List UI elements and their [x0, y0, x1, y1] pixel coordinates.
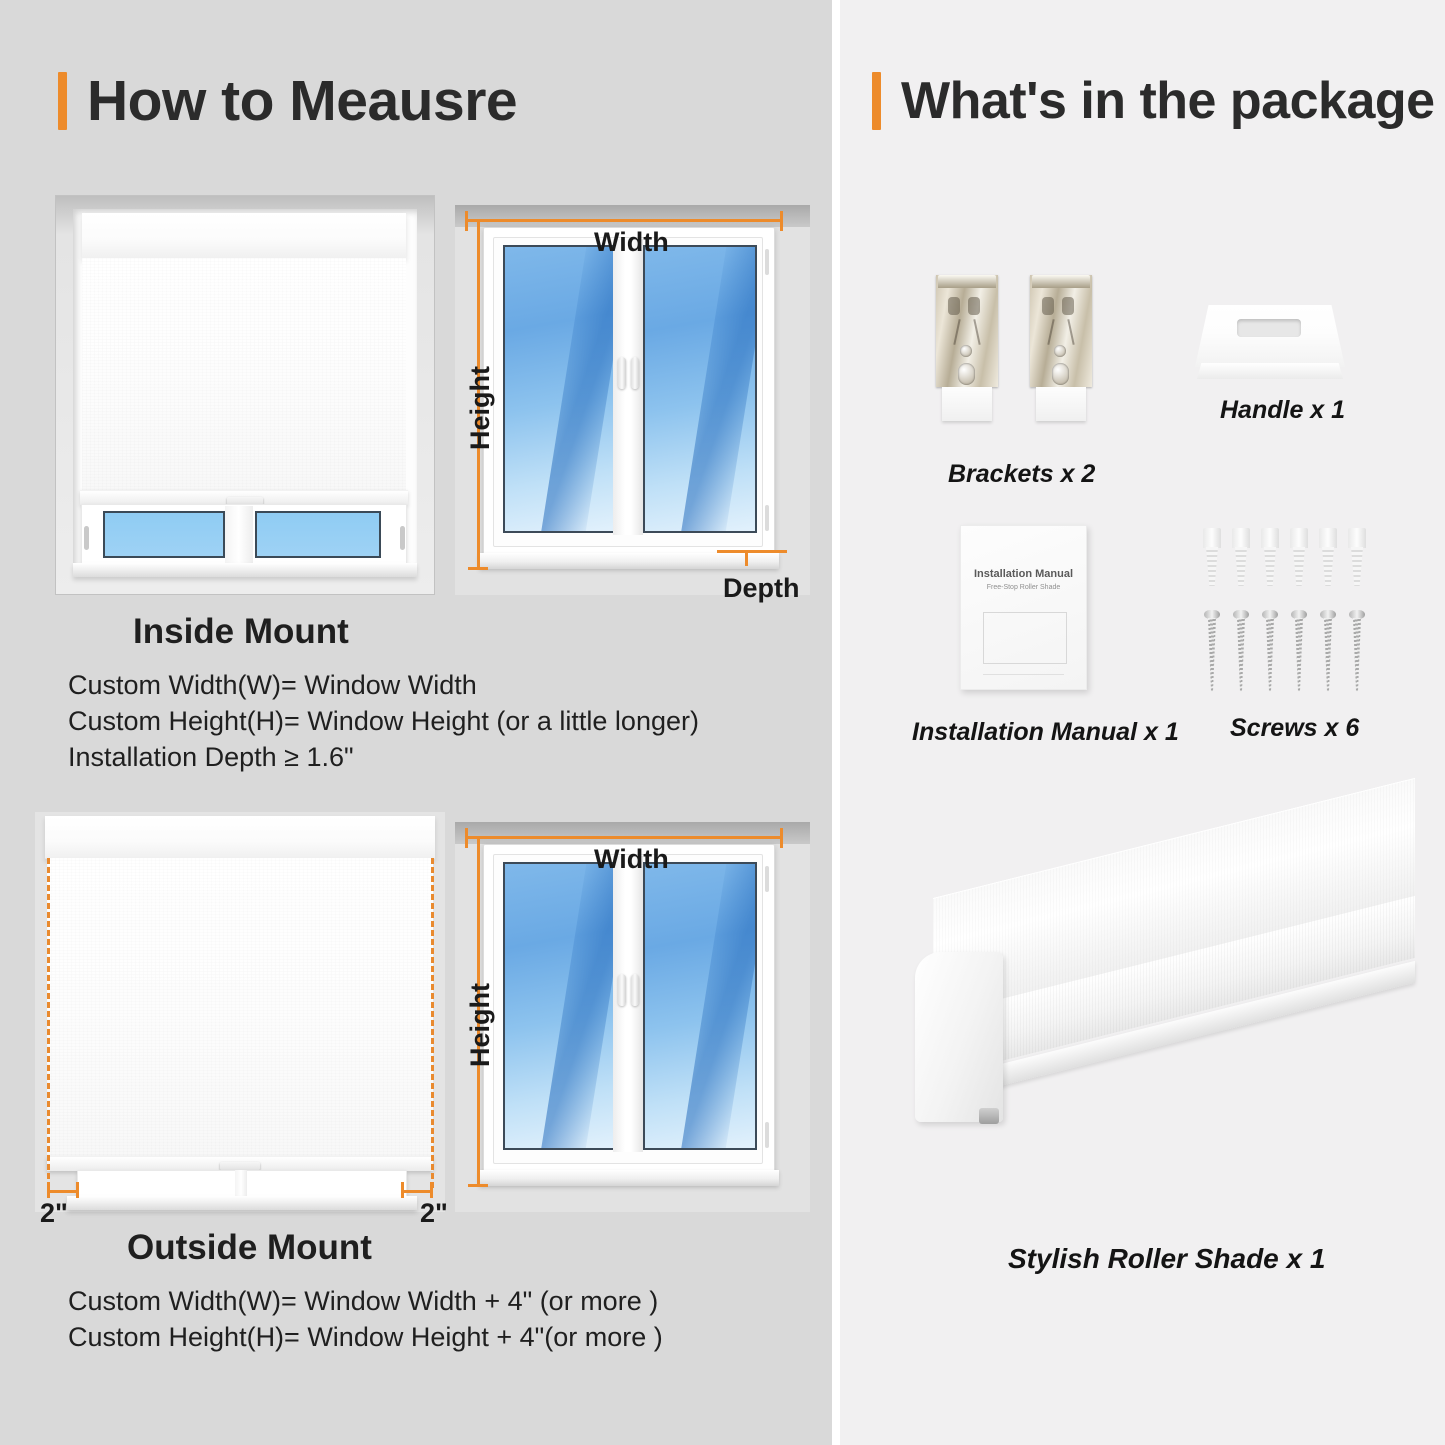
height-cap-bottom — [468, 567, 488, 570]
overhang-cap-right-a — [401, 1182, 404, 1198]
wall-anchor-3 — [1261, 528, 1279, 586]
anchor-head — [1348, 528, 1366, 548]
overhang-label-left: 2" — [40, 1198, 68, 1229]
width-label: Width — [594, 227, 669, 258]
handle-item — [1195, 305, 1345, 383]
width-label: Width — [594, 844, 669, 875]
shade-valance — [45, 816, 435, 859]
screw-5 — [1320, 610, 1336, 692]
screw-head — [1320, 610, 1336, 619]
roller-shade-item — [915, 890, 1415, 1190]
height-label: Height — [465, 983, 496, 1067]
installation-manual-label: Installation Manual x 1 — [912, 718, 1179, 747]
height-label: Height — [465, 366, 496, 450]
accent-bar-icon — [872, 72, 881, 130]
manual-cover-illustration — [983, 612, 1067, 664]
width-cap-right — [780, 828, 783, 848]
anchor-body — [1322, 547, 1334, 586]
diagram-lintel — [455, 205, 810, 227]
inside-mount-title: Inside Mount — [133, 612, 349, 652]
depth-measure-line — [717, 550, 787, 553]
package-contents-panel: What's in the package Brackets x 2 — [840, 0, 1445, 1445]
bracket-top-tab — [1032, 275, 1090, 288]
how-to-measure-heading: How to Meausre — [58, 72, 517, 130]
window-glass-left — [103, 511, 225, 558]
bracket-foot — [942, 387, 992, 421]
bracket-foot — [1036, 387, 1086, 421]
diagram-lintel — [455, 822, 810, 844]
manual-cover-footer-rule — [983, 674, 1064, 675]
panel-divider — [832, 0, 840, 1445]
screws-label: Screws x 6 — [1230, 714, 1359, 743]
diagram-sill — [479, 1170, 779, 1186]
window-glass-right — [255, 511, 381, 558]
window-handle-left — [84, 526, 89, 550]
outside-mount-shade-illustration — [35, 812, 445, 1212]
screw-2 — [1233, 610, 1249, 692]
screw-head — [1291, 610, 1307, 619]
height-cap-bottom — [468, 1184, 488, 1187]
screw-shaft — [1237, 618, 1245, 692]
diagram-handle-left — [618, 974, 626, 1006]
screw-3 — [1262, 610, 1278, 692]
diagram-handle-left — [618, 357, 626, 389]
diagram-glass-left — [503, 862, 617, 1150]
screw-1 — [1204, 610, 1220, 692]
how-to-measure-panel: How to Meausre — [0, 0, 832, 1445]
accent-bar-icon — [58, 72, 67, 130]
screw-head — [1262, 610, 1278, 619]
inside-mount-spec-3: Installation Depth ≥ 1.6" — [68, 742, 354, 773]
diagram-center-mullion — [613, 856, 643, 1152]
window-sill — [73, 563, 417, 577]
screw-shaft — [1295, 618, 1303, 692]
depth-label: Depth — [723, 573, 800, 604]
shade-fabric — [82, 258, 406, 490]
diagram-hinge-bottom — [765, 1122, 769, 1148]
bracket-top-tab — [938, 275, 996, 288]
outside-mount-spec-1: Custom Width(W)= Window Width + 4" (or m… — [68, 1286, 658, 1317]
bracket-mount-hole — [1052, 363, 1069, 385]
screw-shaft — [1266, 618, 1274, 692]
depth-cap — [745, 550, 748, 566]
anchor-body — [1293, 547, 1305, 586]
diagram-glass-left — [503, 245, 617, 533]
width-cap-right — [780, 211, 783, 231]
wall-anchor-6 — [1348, 528, 1366, 586]
diagram-handle-right — [631, 357, 639, 389]
anchor-head — [1261, 528, 1279, 548]
shade-valance — [82, 213, 406, 259]
outside-mount-title: Outside Mount — [127, 1228, 372, 1268]
diagram-handle-right — [631, 974, 639, 1006]
screw-shaft — [1324, 618, 1332, 692]
window-mullion — [225, 506, 253, 563]
screw-head — [1204, 610, 1220, 619]
anchor-head — [1319, 528, 1337, 548]
overhang-guide-right — [431, 858, 434, 1188]
screw-head — [1233, 610, 1249, 619]
anchor-body — [1264, 547, 1276, 586]
window-mullion — [235, 1170, 247, 1196]
diagram-hinge-top — [765, 249, 769, 275]
manual-cover-subtitle: Free-Stop Roller Shade — [961, 584, 1086, 591]
handle-label: Handle x 1 — [1220, 396, 1345, 425]
heading-text: What's in the package — [901, 75, 1435, 127]
overhang-measure-right — [401, 1190, 433, 1193]
diagram-glass-right — [643, 245, 757, 533]
manual-cover-title: Installation Manual — [961, 568, 1086, 580]
bracket-slot-b — [1062, 297, 1074, 315]
outside-mount-measure-diagram: Width Height — [455, 822, 810, 1212]
bracket-mount-hole — [958, 363, 975, 385]
diagram-sill — [479, 553, 779, 569]
heading-text: How to Meausre — [87, 73, 517, 130]
infographic-page: How to Meausre — [0, 0, 1445, 1445]
height-cap-top — [468, 219, 488, 222]
roller-shade-endcap — [915, 952, 1003, 1122]
overhang-guide-left — [47, 858, 50, 1188]
inside-mount-shade-illustration — [55, 195, 435, 595]
screw-shaft — [1208, 618, 1216, 692]
width-measure-line — [465, 836, 783, 839]
wall-anchor-2 — [1232, 528, 1250, 586]
inside-mount-measure-diagram: Width Height Depth — [455, 205, 810, 595]
bracket-slot-a — [948, 297, 960, 315]
diagram-glass-right — [643, 862, 757, 1150]
bracket-item-1 — [936, 275, 998, 425]
diagram-hinge-top — [765, 866, 769, 892]
anchor-head — [1203, 528, 1221, 548]
wall-anchor-1 — [1203, 528, 1221, 586]
window-handle-right — [400, 526, 405, 550]
roller-shade-label: Stylish Roller Shade x 1 — [1008, 1243, 1325, 1275]
package-heading: What's in the package — [872, 72, 1435, 130]
inside-mount-spec-2: Custom Height(H)= Window Height (or a li… — [68, 706, 699, 737]
bracket-slot-b — [968, 297, 980, 315]
handle-grip-slot — [1237, 319, 1301, 337]
overhang-cap-right-b — [430, 1182, 433, 1198]
wall-anchor-5 — [1319, 528, 1337, 586]
wall-anchor-4 — [1290, 528, 1308, 586]
brackets-label: Brackets x 2 — [948, 460, 1095, 489]
overhang-label-right: 2" — [420, 1198, 448, 1229]
roller-shade-endcap-tip — [979, 1108, 999, 1124]
anchor-head — [1290, 528, 1308, 548]
overhang-cap-left-a — [47, 1182, 50, 1198]
installation-manual-item: Installation Manual Free-Stop Roller Sha… — [960, 525, 1087, 690]
anchor-body — [1235, 547, 1247, 586]
bracket-hole — [1054, 345, 1066, 357]
anchor-head — [1232, 528, 1250, 548]
window-sill — [67, 1196, 417, 1210]
bracket-slot-a — [1042, 297, 1054, 315]
shade-fabric — [47, 858, 433, 1158]
anchor-body — [1206, 547, 1218, 586]
bracket-hole — [960, 345, 972, 357]
height-cap-top — [468, 836, 488, 839]
handle-lip — [1197, 363, 1343, 379]
outside-mount-spec-2: Custom Height(H)= Window Height + 4"(or … — [68, 1322, 663, 1353]
screw-6 — [1349, 610, 1365, 692]
diagram-hinge-bottom — [765, 505, 769, 531]
overhang-cap-left-b — [76, 1182, 79, 1198]
diagram-center-mullion — [613, 239, 643, 535]
anchor-body — [1351, 547, 1363, 586]
width-measure-line — [465, 219, 783, 222]
overhang-measure-left — [47, 1190, 79, 1193]
screw-head — [1349, 610, 1365, 619]
screw-shaft — [1353, 618, 1361, 692]
bracket-item-2 — [1030, 275, 1092, 425]
screw-4 — [1291, 610, 1307, 692]
inside-mount-spec-1: Custom Width(W)= Window Width — [68, 670, 477, 701]
